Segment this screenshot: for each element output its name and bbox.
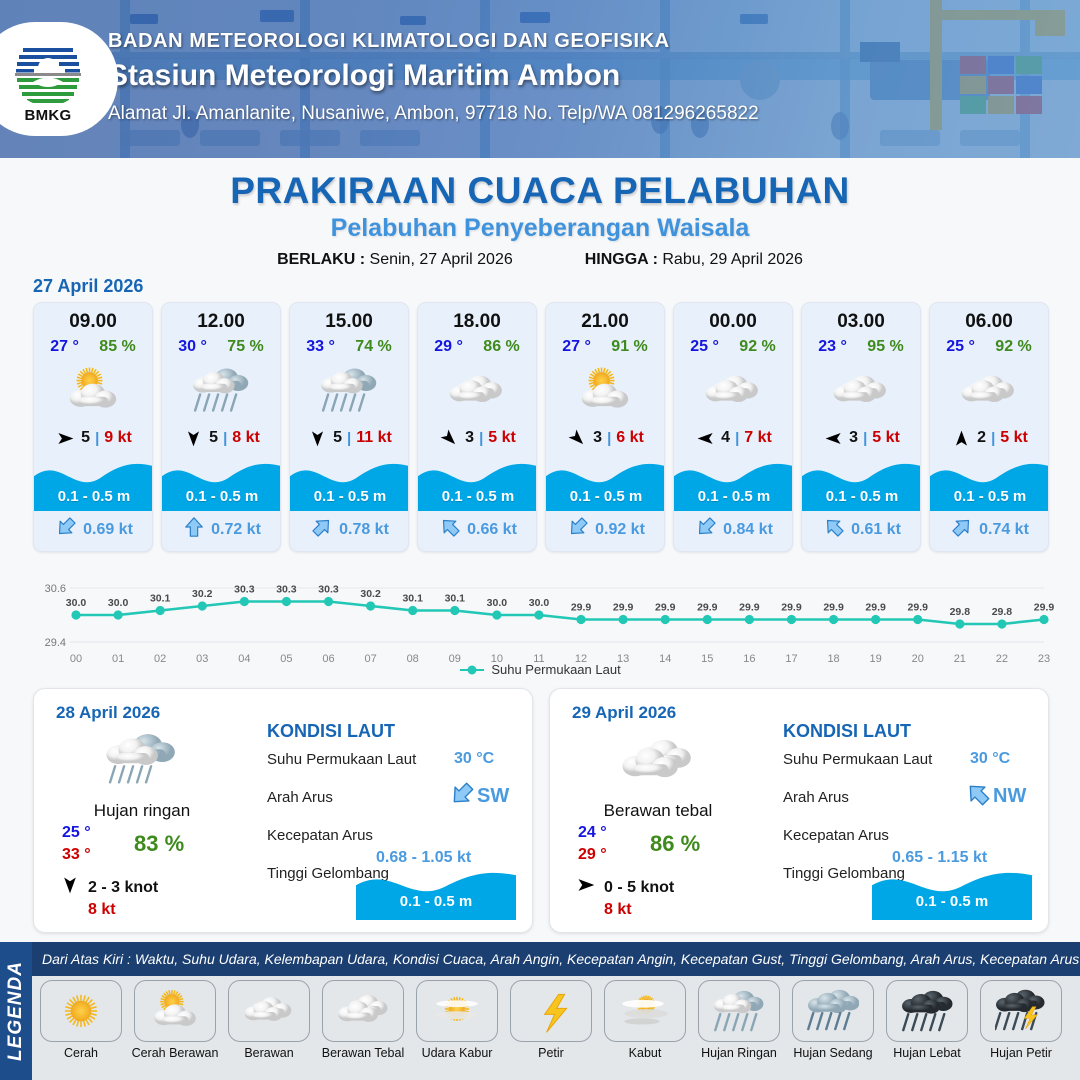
wind-gust: 5 kt xyxy=(872,429,900,447)
wind-gust: 8 kt xyxy=(232,429,260,447)
svg-text:29.8: 29.8 xyxy=(950,606,971,618)
wave-graphic xyxy=(872,864,1032,920)
legenda-item-label: Berawan Tebal xyxy=(318,1046,408,1060)
weather-icon-hujan-ringan xyxy=(162,362,280,420)
wind-direction-arrow-icon xyxy=(306,428,328,448)
svg-text:30.1: 30.1 xyxy=(402,593,423,605)
svg-text:29.9: 29.9 xyxy=(571,602,592,614)
svg-text:30.2: 30.2 xyxy=(360,588,381,600)
legenda-item-label: Hujan Sedang xyxy=(788,1046,878,1060)
page-title: PRAKIRAAN CUACA PELABUHAN xyxy=(0,170,1080,212)
wind-gust: 6 kt xyxy=(616,429,644,447)
legenda-item: Petir xyxy=(506,980,596,1060)
weather-icon-berawan xyxy=(802,362,920,420)
wind-gust: 11 kt xyxy=(356,429,392,447)
daily-wind: 0 - 5 knot xyxy=(576,875,674,900)
legenda-item-label: Cerah xyxy=(36,1046,126,1060)
validity-range: BERLAKU : Senin, 27 April 2026 HINGGA : … xyxy=(0,251,1080,269)
page-subtitle: Pelabuhan Penyeberangan Waisala xyxy=(0,214,1080,243)
hingga-value: Rabu, 29 April 2026 xyxy=(662,251,803,268)
card-time: 12.00 xyxy=(162,311,280,333)
current-speed: 0.84 kt xyxy=(723,521,773,539)
wind-speed: 4 xyxy=(721,429,730,447)
station-name: Stasiun Meteorologi Maritim Ambon xyxy=(108,59,759,93)
daily-condition: Hujan ringan xyxy=(42,801,242,821)
wind-separator: | xyxy=(863,430,867,447)
weather-icon-cerah-berawan xyxy=(34,362,152,420)
wave-height: 0.1 - 0.5 m xyxy=(290,488,409,505)
wind-separator: | xyxy=(347,430,351,447)
card-temperature: 30 ° xyxy=(178,338,207,356)
wave-height-value: 0.1 - 0.5 m xyxy=(872,893,1032,910)
wave-height: 0.1 - 0.5 m xyxy=(802,488,921,505)
hingga-block: HINGGA : Rabu, 29 April 2026 xyxy=(585,251,803,269)
legenda-icon-row: Cerah Cerah Berawan xyxy=(32,980,1080,1060)
hingga-label: HINGGA : xyxy=(585,251,658,268)
current-direction-arrow-icon xyxy=(449,781,475,812)
svg-text:29.9: 29.9 xyxy=(613,602,634,614)
wind-direction-arrow-icon xyxy=(438,428,460,448)
weather-icon-petir xyxy=(510,980,592,1042)
svg-text:30.0: 30.0 xyxy=(487,597,508,609)
weather-icon-hujan-lebat xyxy=(886,980,968,1042)
hourly-card: 06.00 25 ° 92 % xyxy=(929,302,1049,552)
wave-height: 0.1 - 0.5 m xyxy=(546,488,665,505)
berlaku-value: Senin, 27 April 2026 xyxy=(370,251,513,268)
legenda-item: Kabut xyxy=(600,980,690,1060)
hourly-card: 09.00 27 ° 85 % xyxy=(33,302,153,552)
weather-icon-berawan xyxy=(930,362,1048,420)
weather-icon-hujan-ringan xyxy=(698,980,780,1042)
current-speed: 0.74 kt xyxy=(979,521,1029,539)
card-time: 06.00 xyxy=(930,311,1048,333)
daily-date: 28 April 2026 xyxy=(56,703,160,723)
wave-height: 0.1 - 0.5 m xyxy=(930,488,1049,505)
card-humidity: 85 % xyxy=(99,338,135,356)
current-direction-arrow-icon xyxy=(567,516,589,543)
card-humidity: 86 % xyxy=(483,338,519,356)
wave-height: 0.1 - 0.5 m xyxy=(674,488,793,505)
legenda-item: Berawan Tebal xyxy=(318,980,408,1060)
wind-direction-arrow-icon xyxy=(566,428,588,448)
wind-direction-arrow-icon xyxy=(950,428,972,448)
daily-wind-speed: 0 - 5 knot xyxy=(604,879,674,897)
svg-text:29.9: 29.9 xyxy=(781,602,802,614)
card-time: 21.00 xyxy=(546,311,664,333)
current-speed: 0.78 kt xyxy=(339,521,389,539)
svg-text:29.8: 29.8 xyxy=(992,606,1013,618)
legenda-item-label: Hujan Lebat xyxy=(882,1046,972,1060)
card-humidity: 91 % xyxy=(611,338,647,356)
wind-separator: | xyxy=(95,430,99,447)
svg-text:30.3: 30.3 xyxy=(276,584,297,596)
chart-legend-label: Suhu Permukaan Laut xyxy=(491,662,620,677)
svg-text:29.4: 29.4 xyxy=(45,637,66,649)
current-direction-value: NW xyxy=(993,785,1026,808)
current-direction-label: Arah Arus xyxy=(267,789,333,806)
current-direction-arrow-icon xyxy=(55,516,77,543)
sea-conditions-title: KONDISI LAUT xyxy=(267,721,395,742)
svg-text:30.0: 30.0 xyxy=(529,597,550,609)
legenda-item-label: Udara Kabur xyxy=(412,1046,502,1060)
svg-text:30.3: 30.3 xyxy=(234,584,255,596)
weather-icon-cerah-berawan xyxy=(134,980,216,1042)
card-temperature: 27 ° xyxy=(50,338,79,356)
daily-temperatures: 25 ° 33 ° xyxy=(62,824,91,864)
hourly-card: 00.00 25 ° 92 % xyxy=(673,302,793,552)
hourly-card: 21.00 27 ° 91 % xyxy=(545,302,665,552)
card-time: 03.00 xyxy=(802,311,920,333)
card-temperature: 29 ° xyxy=(434,338,463,356)
daily-forecast-row: 28 April 2026 Hujan ringan xyxy=(33,688,1049,933)
card-time: 18.00 xyxy=(418,311,536,333)
svg-text:29.9: 29.9 xyxy=(697,602,718,614)
hourly-card: 18.00 29 ° 86 % xyxy=(417,302,537,552)
svg-text:29.9: 29.9 xyxy=(739,602,760,614)
wind-gust: 9 kt xyxy=(104,429,132,447)
wind-speed: 5 xyxy=(333,429,342,447)
legenda-item: Udara Kabur xyxy=(412,980,502,1060)
svg-text:29.9: 29.9 xyxy=(823,602,844,614)
current-speed: 0.61 kt xyxy=(851,521,901,539)
daily-wind-gust: 8 kt xyxy=(88,901,116,919)
svg-text:29.9: 29.9 xyxy=(865,602,886,614)
current-direction-arrow-icon xyxy=(439,516,461,543)
svg-text:29.9: 29.9 xyxy=(655,602,676,614)
wind-direction-arrow-icon xyxy=(54,428,76,448)
berlaku-block: BERLAKU : Senin, 27 April 2026 xyxy=(277,251,513,269)
wind-speed: 2 xyxy=(977,429,986,447)
daily-forecast-panel: 28 April 2026 Hujan ringan xyxy=(33,688,533,933)
card-humidity: 74 % xyxy=(355,338,391,356)
current-direction-label: Arah Arus xyxy=(783,789,849,806)
svg-text:30.0: 30.0 xyxy=(108,597,129,609)
bmkg-logo: BMKG xyxy=(0,22,118,136)
legenda-item-label: Hujan Ringan xyxy=(694,1046,784,1060)
current-speed: 0.72 kt xyxy=(211,521,261,539)
daily-temp-max: 29 ° xyxy=(578,846,607,864)
wind-separator: | xyxy=(991,430,995,447)
daily-humidity: 83 % xyxy=(134,831,184,857)
card-humidity: 75 % xyxy=(227,338,263,356)
current-speed: 0.92 kt xyxy=(595,521,645,539)
wind-direction-arrow-icon xyxy=(60,875,80,900)
wind-speed: 3 xyxy=(593,429,602,447)
card-humidity: 92 % xyxy=(739,338,775,356)
daily-wind: 2 - 3 knot xyxy=(60,875,158,900)
current-direction-block: SW xyxy=(449,781,509,812)
weather-icon-berawan xyxy=(674,362,792,420)
current-direction-arrow-icon xyxy=(311,516,333,543)
hourly-card: 03.00 23 ° 95 % xyxy=(801,302,921,552)
bmkg-logo-circle xyxy=(11,36,85,106)
wind-gust: 7 kt xyxy=(744,429,772,447)
hourly-card: 15.00 33 ° 74 % xyxy=(289,302,409,552)
hourly-forecast-row: 09.00 27 ° 85 % xyxy=(33,302,1049,552)
weather-icon-hujan-ringan xyxy=(86,727,196,797)
bmkg-logo-text: BMKG xyxy=(11,107,85,124)
sst-chart: 30.629.430.00030.00130.10230.20330.30430… xyxy=(24,560,1056,670)
daily-wind-gust: 8 kt xyxy=(604,901,632,919)
current-direction-arrow-icon xyxy=(695,516,717,543)
legenda-item: Cerah xyxy=(36,980,126,1060)
svg-text:29.9: 29.9 xyxy=(1034,602,1055,614)
card-temperature: 25 ° xyxy=(946,338,975,356)
daily-forecast-panel: 29 April 2026 Berawan tebal xyxy=(549,688,1049,933)
sea-conditions-title: KONDISI LAUT xyxy=(783,721,911,742)
svg-text:30.3: 30.3 xyxy=(318,584,339,596)
svg-text:30.1: 30.1 xyxy=(150,593,171,605)
current-speed-label: Kecepatan Arus xyxy=(783,827,889,844)
svg-text:29.9: 29.9 xyxy=(908,602,929,614)
legenda-item-label: Kabut xyxy=(600,1046,690,1060)
svg-text:30.2: 30.2 xyxy=(192,588,213,600)
sst-value: 30 °C xyxy=(454,750,494,768)
svg-text:30.6: 30.6 xyxy=(45,583,66,595)
weather-icon-cerah xyxy=(40,980,122,1042)
weather-icon-hujan-sedang xyxy=(792,980,874,1042)
legenda-item-label: Petir xyxy=(506,1046,596,1060)
daily-wind-speed: 2 - 3 knot xyxy=(88,879,158,897)
chart-legend-marker-icon xyxy=(459,664,485,676)
weather-icon-berawan xyxy=(228,980,310,1042)
card-temperature: 23 ° xyxy=(818,338,847,356)
current-speed: 0.69 kt xyxy=(83,521,133,539)
weather-icon-udara-kabur xyxy=(416,980,498,1042)
current-speed: 0.66 kt xyxy=(467,521,517,539)
wind-direction-arrow-icon xyxy=(822,428,844,448)
legenda-item: Berawan xyxy=(224,980,314,1060)
wind-gust: 5 kt xyxy=(488,429,516,447)
chart-legend: Suhu Permukaan Laut xyxy=(0,662,1080,677)
daily-temp-min: 25 ° xyxy=(62,824,91,842)
wind-speed: 3 xyxy=(465,429,474,447)
wind-speed: 3 xyxy=(849,429,858,447)
hourly-card: 12.00 30 ° 75 % xyxy=(161,302,281,552)
wind-separator: | xyxy=(735,430,739,447)
wave-height-value: 0.1 - 0.5 m xyxy=(356,893,516,910)
daily-temperatures: 24 ° 29 ° xyxy=(578,824,607,864)
weather-icon-kabut xyxy=(604,980,686,1042)
svg-text:30.0: 30.0 xyxy=(66,597,87,609)
weather-icon-berawan-tebal xyxy=(322,980,404,1042)
card-time: 00.00 xyxy=(674,311,792,333)
legenda-section: LEGENDA Dari Atas Kiri : Waktu, Suhu Uda… xyxy=(0,942,1080,1080)
legenda-note: Dari Atas Kiri : Waktu, Suhu Udara, Kele… xyxy=(42,951,1079,967)
legenda-item: Hujan Lebat xyxy=(882,980,972,1060)
current-direction-arrow-icon xyxy=(823,516,845,543)
wind-direction-arrow-icon xyxy=(182,428,204,448)
hourly-date-label: 27 April 2026 xyxy=(33,276,143,297)
legenda-side-label: LEGENDA xyxy=(0,942,32,1080)
legenda-note-bar: Dari Atas Kiri : Waktu, Suhu Udara, Kele… xyxy=(32,942,1080,976)
legenda-item: Hujan Petir xyxy=(976,980,1066,1060)
current-direction-arrow-icon xyxy=(183,516,205,543)
legenda-item-label: Cerah Berawan xyxy=(130,1046,220,1060)
wind-direction-arrow-icon xyxy=(694,428,716,448)
sst-label: Suhu Permukaan Laut xyxy=(783,751,932,768)
weather-icon-cerah-berawan xyxy=(546,362,664,420)
wind-speed: 5 xyxy=(209,429,218,447)
weather-icon-hujan-petir xyxy=(980,980,1062,1042)
card-humidity: 95 % xyxy=(867,338,903,356)
daily-temp-max: 33 ° xyxy=(62,846,91,864)
legenda-side-text: LEGENDA xyxy=(5,961,27,1061)
card-humidity: 92 % xyxy=(995,338,1031,356)
daily-condition: Berawan tebal xyxy=(558,801,758,821)
card-temperature: 25 ° xyxy=(690,338,719,356)
wave-height: 0.1 - 0.5 m xyxy=(162,488,281,505)
wave-height: 0.1 - 0.5 m xyxy=(34,488,153,505)
weather-icon-berawan xyxy=(418,362,536,420)
current-direction-arrow-icon xyxy=(965,781,991,812)
legenda-item: Cerah Berawan xyxy=(130,980,220,1060)
current-direction-arrow-icon xyxy=(951,516,973,543)
sst-label: Suhu Permukaan Laut xyxy=(267,751,416,768)
agency-name: BADAN METEOROLOGI KLIMATOLOGI DAN GEOFIS… xyxy=(108,30,759,53)
weather-icon-hujan-ringan xyxy=(290,362,408,420)
wave-graphic xyxy=(356,864,516,920)
wind-separator: | xyxy=(607,430,611,447)
wave-height: 0.1 - 0.5 m xyxy=(418,488,537,505)
legenda-item-label: Berawan xyxy=(224,1046,314,1060)
daily-date: 29 April 2026 xyxy=(572,703,676,723)
legenda-item-label: Hujan Petir xyxy=(976,1046,1066,1060)
wind-speed: 5 xyxy=(81,429,90,447)
card-time: 09.00 xyxy=(34,311,152,333)
svg-text:30.1: 30.1 xyxy=(445,593,466,605)
legenda-item: Hujan Ringan xyxy=(694,980,784,1060)
berlaku-label: BERLAKU : xyxy=(277,251,365,268)
daily-humidity: 86 % xyxy=(650,831,700,857)
current-speed-label: Kecepatan Arus xyxy=(267,827,373,844)
legenda-item: Hujan Sedang xyxy=(788,980,878,1060)
card-temperature: 27 ° xyxy=(562,338,591,356)
sst-value: 30 °C xyxy=(970,750,1010,768)
card-time: 15.00 xyxy=(290,311,408,333)
wind-gust: 5 kt xyxy=(1000,429,1028,447)
card-temperature: 33 ° xyxy=(306,338,335,356)
page-header: BMKG BADAN METEOROLOGI KLIMATOLOGI DAN G… xyxy=(0,0,1080,158)
current-direction-block: NW xyxy=(965,781,1026,812)
wind-direction-arrow-icon xyxy=(576,875,596,900)
weather-icon-berawan-tebal xyxy=(602,727,712,797)
daily-temp-min: 24 ° xyxy=(578,824,607,842)
wind-separator: | xyxy=(223,430,227,447)
current-direction-value: SW xyxy=(477,785,509,808)
wind-separator: | xyxy=(479,430,483,447)
station-address: Alamat Jl. Amanlanite, Nusaniwe, Ambon, … xyxy=(108,103,759,125)
